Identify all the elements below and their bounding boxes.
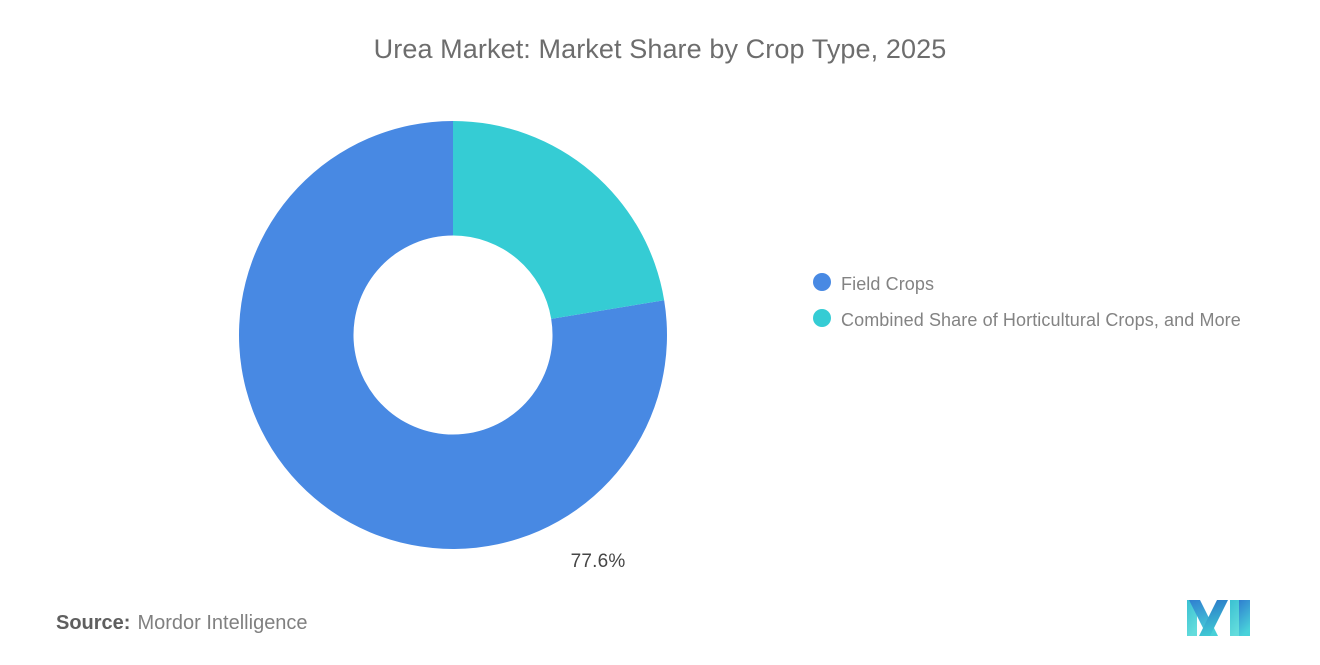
legend-label-field-crops: Field Crops	[841, 270, 934, 298]
legend-swatch-icon-field-crops	[813, 273, 831, 291]
logo-glyph	[1186, 597, 1252, 639]
legend-item-horticultural-crops[interactable]: Combined Share of Horticultural Crops, a…	[813, 306, 1283, 334]
page-title: Urea Market: Market Share by Crop Type, …	[0, 30, 1320, 68]
source-label: Source:	[56, 612, 130, 634]
donut-chart-svg	[238, 120, 668, 550]
source-attribution: Source:Mordor Intelligence	[56, 612, 308, 635]
chart-legend: Field Crops Combined Share of Horticultu…	[813, 270, 1283, 342]
source-value: Mordor Intelligence	[137, 612, 307, 634]
chart-canvas: Urea Market: Market Share by Crop Type, …	[0, 0, 1320, 665]
mordor-intelligence-logo-icon	[1186, 597, 1252, 639]
legend-item-field-crops[interactable]: Field Crops	[813, 270, 1283, 298]
pie-slice-label-field-crops: 77.6%	[543, 551, 653, 573]
legend-label-horticultural-crops: Combined Share of Horticultural Crops, a…	[841, 306, 1241, 334]
legend-swatch-icon-horticultural-crops	[813, 309, 831, 327]
pie-slice-horticultural-crops[interactable]	[453, 121, 664, 319]
donut-chart: 77.6%	[238, 120, 668, 550]
